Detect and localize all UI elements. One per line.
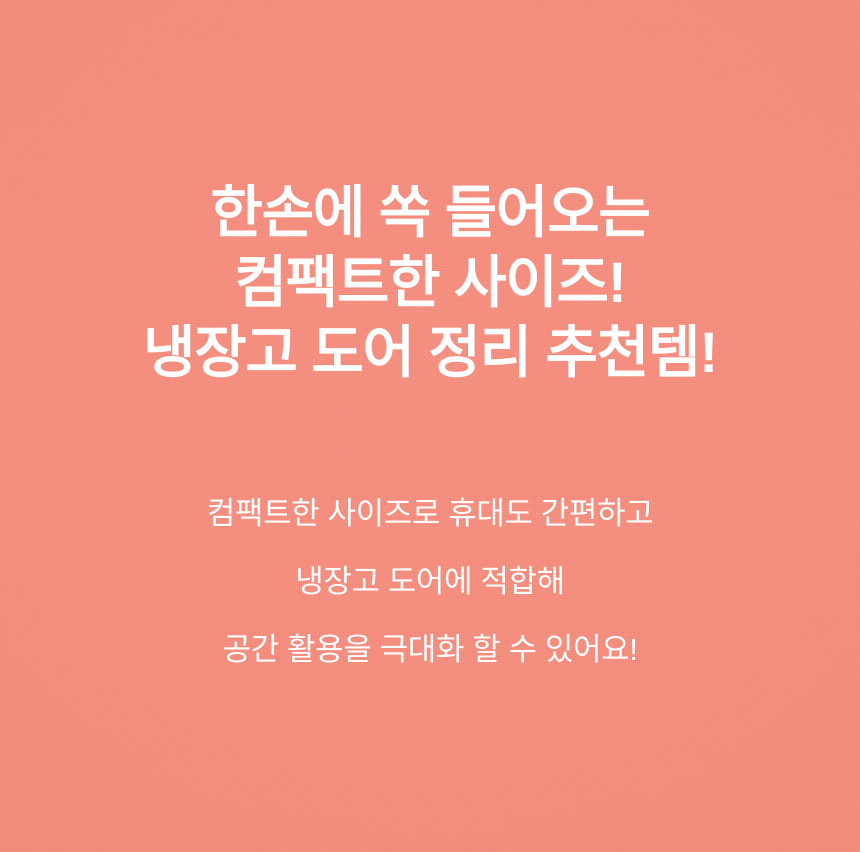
- headline-line-1: 한손에 쏙 들어오는: [210, 178, 649, 248]
- body-line-1: 컴팩트한 사이즈로 휴대도 간편하고: [207, 480, 653, 548]
- body-line-3: 공간 활용을 극대화 할 수 있어요!: [223, 616, 638, 684]
- banner-content: 한손에 쏙 들어오는 컴팩트한 사이즈! 냉장고 도어 정리 추천템! 컴팩트한…: [0, 0, 860, 684]
- headline-line-2: 컴팩트한 사이즈!: [234, 248, 625, 318]
- body-text-block: 컴팩트한 사이즈로 휴대도 간편하고 냉장고 도어에 적합해 공간 활용을 극대…: [207, 480, 653, 684]
- promo-banner: 한손에 쏙 들어오는 컴팩트한 사이즈! 냉장고 도어 정리 추천템! 컴팩트한…: [0, 0, 860, 852]
- headline-line-3: 냉장고 도어 정리 추천템!: [143, 318, 717, 388]
- headline-block: 한손에 쏙 들어오는 컴팩트한 사이즈! 냉장고 도어 정리 추천템!: [143, 178, 717, 388]
- body-line-2: 냉장고 도어에 적합해: [295, 548, 565, 616]
